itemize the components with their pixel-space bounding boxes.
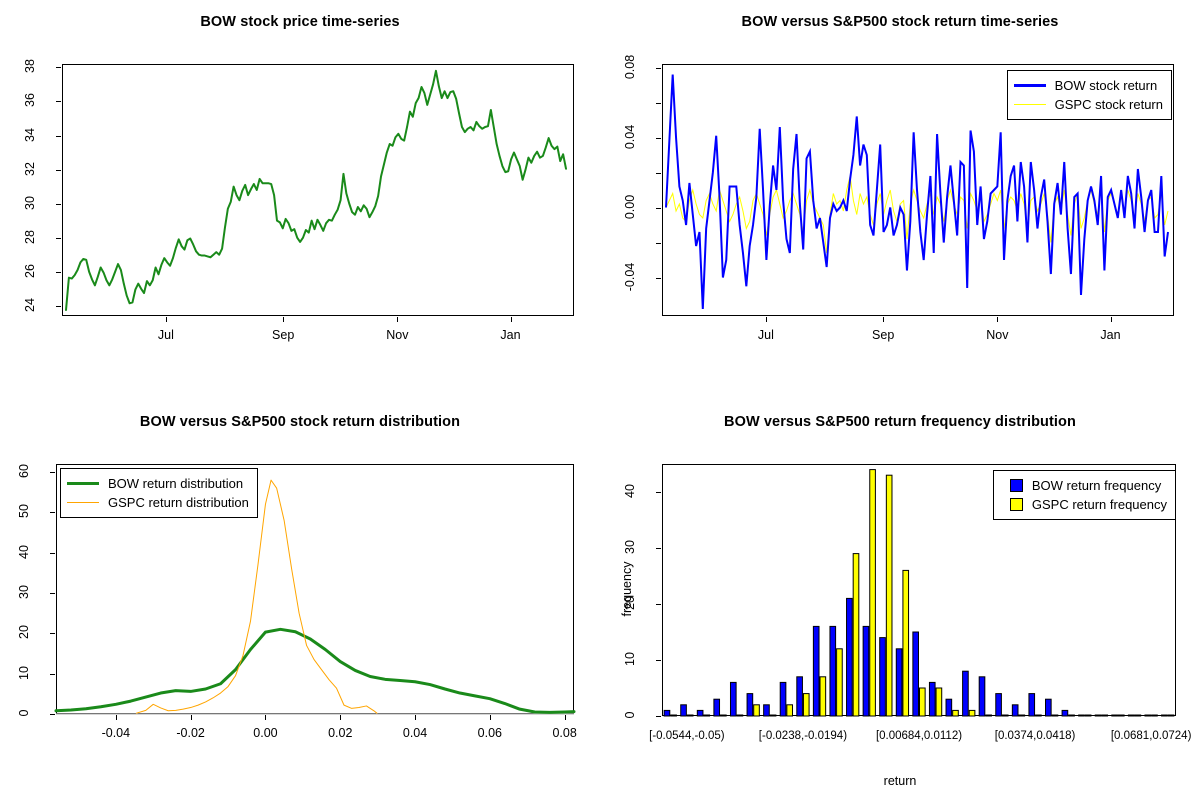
panel4-y-axis-title: frequency [620,544,634,634]
legend-item-gspc-return: GSPC stock return [1014,95,1163,114]
legend-line-bow-return [1014,84,1046,87]
panel-return-time-series: BOW versus S&P500 stock return time-seri… [600,0,1200,400]
panel2-y-minor-1-mark [656,173,661,174]
legend-item-bow-frequency: BOW return frequency [1000,476,1167,495]
panel1-x-tick-3: Jan [431,328,591,342]
panel3-x-tick-6-mark [565,715,566,720]
legend-line-bow-distribution [67,482,99,485]
panel1-y-tick-2-mark [56,238,61,239]
panel2-y-minor-2-mark [656,103,661,104]
panel3-y-tick-1-mark [50,674,55,675]
panel1-x-tick-2-mark [397,317,398,322]
panel-return-frequency: BOW versus S&P500 return frequency distr… [600,400,1200,800]
figure-canvas: BOW stock price time-series 242628303234… [0,0,1200,800]
panel1-y-tick-0-mark [56,306,61,307]
panel2-x-tick-3-mark [1111,317,1112,322]
panel4-x-axis-title: return [600,774,1200,788]
panel1-x-tick-1-mark [283,317,284,322]
panel3-legend: BOW return distribution GSPC return dist… [60,468,258,518]
panel-price-time-series: BOW stock price time-series 242628303234… [0,0,600,400]
panel1-y-tick-4-mark [56,170,61,171]
panel3-x-tick-3-mark [340,715,341,720]
panel1-y-tick-5-mark [56,136,61,137]
panel3-x-tick-2-mark [265,715,266,720]
panel2-title: BOW versus S&P500 stock return time-seri… [600,14,1200,30]
panel2-y-tick-0: -0.04 [623,257,637,297]
panel3-y-tick-6-mark [50,472,55,473]
panel4-y-tick-2-mark [656,604,661,605]
legend-swatch-bow-frequency [1010,479,1023,492]
panel2-y-tick-1-mark [656,208,661,209]
panel4-y-tick-0: 0 [623,695,637,735]
panel3-y-tick-2: 20 [17,612,31,652]
panel3-y-tick-5: 50 [17,491,31,531]
panel3-y-tick-1: 10 [17,653,31,693]
panel1-title: BOW stock price time-series [0,14,600,30]
panel4-y-tick-4: 40 [623,471,637,511]
panel1-y-tick-6-mark [56,101,61,102]
panel1-x-tick-0-mark [166,317,167,322]
panel3-x-tick-4-mark [415,715,416,720]
legend-label-bow-return: BOW stock return [1055,79,1158,92]
panel2-x-tick-0-mark [766,317,767,322]
legend-label-gspc-frequency: GSPC return frequency [1032,498,1167,511]
panel4-legend: BOW return frequency GSPC return frequen… [993,470,1176,520]
panel1-y-tick-7: 38 [23,46,37,86]
panel4-y-tick-3-mark [656,548,661,549]
panel4-y-tick-0-mark [656,716,661,717]
panel2-y-tick-1: 0.00 [623,187,637,227]
panel3-y-tick-5-mark [50,512,55,513]
panel2-y-tick-0-mark [656,278,661,279]
panel2-y-tick-2-mark [656,138,661,139]
panel1-y-tick-6: 36 [23,80,37,120]
legend-label-bow-distribution: BOW return distribution [108,477,243,490]
panel1-plot-area [62,64,574,316]
panel4-y-tick-1: 10 [623,639,637,679]
panel3-y-tick-6: 60 [17,451,31,491]
panel1-y-tick-3-mark [56,204,61,205]
legend-item-bow-return: BOW stock return [1014,76,1163,95]
legend-item-gspc-frequency: GSPC return frequency [1000,495,1167,514]
panel2-legend: BOW stock return GSPC stock return [1007,70,1172,120]
panel2-y-minor-0-mark [656,243,661,244]
legend-swatch-gspc-frequency [1010,498,1023,511]
panel3-y-tick-3: 30 [17,572,31,612]
panel4-y-tick-4-mark [656,492,661,493]
legend-line-gspc-return [1014,104,1046,105]
panel4-x-tick-4: [0.0681,0.0724) [1066,730,1200,742]
panel1-x-tick-3-mark [511,317,512,322]
panel1-y-tick-7-mark [56,67,61,68]
legend-label-gspc-distribution: GSPC return distribution [108,496,249,509]
panel2-y-tick-2: 0.04 [623,117,637,157]
panel3-y-tick-4: 40 [17,532,31,572]
panel2-y-tick-3: 0.08 [623,47,637,87]
panel2-y-tick-3-mark [656,68,661,69]
panel3-x-tick-5-mark [490,715,491,720]
panel2-x-tick-1-mark [883,317,884,322]
legend-item-bow-distribution: BOW return distribution [67,474,249,493]
legend-label-gspc-return: GSPC stock return [1055,98,1163,111]
panel2-x-tick-2-mark [997,317,998,322]
panel3-title: BOW versus S&P500 stock return distribut… [0,414,600,430]
panel4-y-tick-1-mark [656,660,661,661]
panel3-y-tick-3-mark [50,593,55,594]
panel3-x-tick-0-mark [116,715,117,720]
legend-item-gspc-distribution: GSPC return distribution [67,493,249,512]
panel1-y-tick-1-mark [56,272,61,273]
panel4-title: BOW versus S&P500 return frequency distr… [600,414,1200,430]
panel3-x-tick-1-mark [191,715,192,720]
panel3-y-tick-0-mark [50,714,55,715]
panel3-y-tick-2-mark [50,633,55,634]
panel1-y-tick-5: 34 [23,115,37,155]
panel3-y-tick-0: 0 [17,693,31,733]
legend-line-gspc-distribution [67,502,99,503]
panel2-x-tick-3: Jan [1031,328,1191,342]
panel3-y-tick-4-mark [50,553,55,554]
panel-return-distribution: BOW versus S&P500 stock return distribut… [0,400,600,800]
legend-label-bow-frequency: BOW return frequency [1032,479,1161,492]
